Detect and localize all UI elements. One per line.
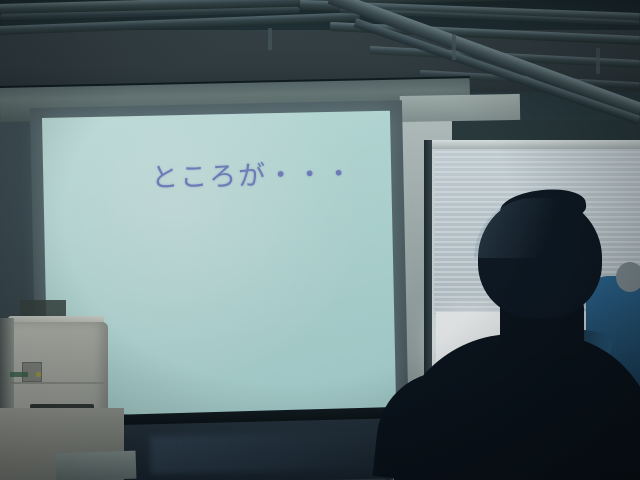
screen-housing-right: [400, 94, 520, 122]
ceiling-hanger-2: [452, 34, 456, 60]
blind-headrail[interactable]: [432, 140, 640, 149]
audience-member-silhouette: [404, 196, 640, 480]
machine-output-tray: [56, 451, 137, 480]
slide-headline: ところが・・・: [151, 152, 355, 195]
lower-wall-reflection: [150, 430, 411, 474]
machine-indicator-light: [36, 372, 41, 377]
machine-label-sticker: [10, 372, 28, 377]
ceiling-hanger-1: [268, 28, 272, 50]
room-photo-scene: ところが・・・: [0, 0, 640, 480]
machine-panel-seam: [8, 382, 104, 384]
ceiling-hanger-3: [596, 48, 600, 74]
